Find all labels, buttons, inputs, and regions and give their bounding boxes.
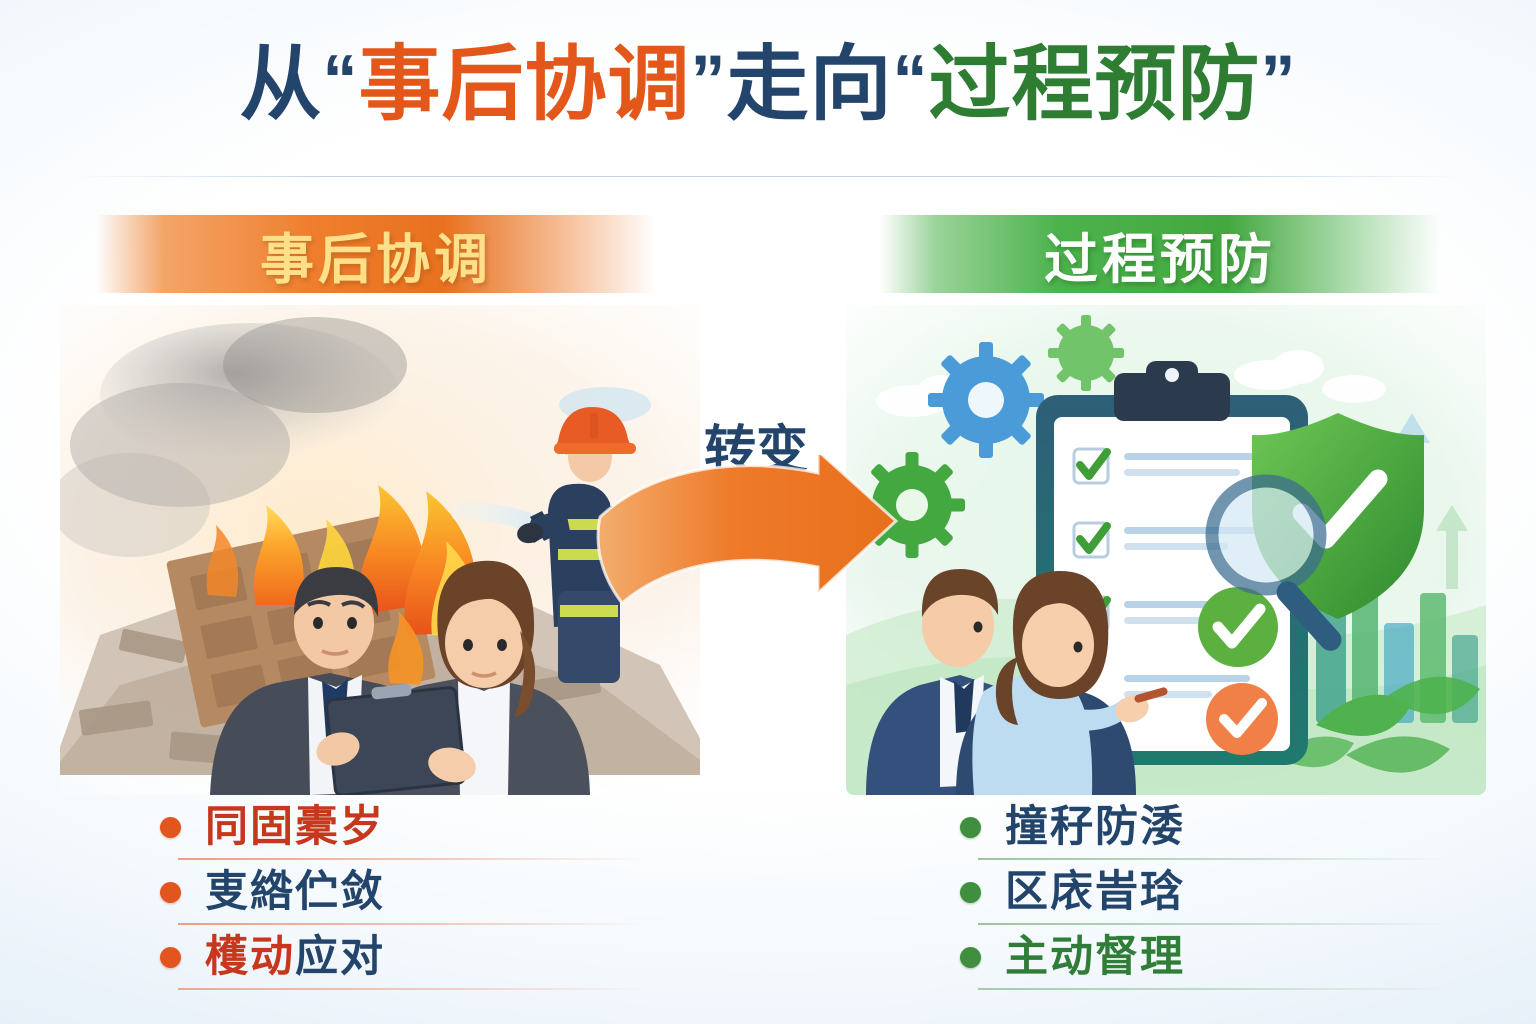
gear-blue xyxy=(928,342,1044,458)
title-segment-shihou-xietiao: 事后协调 xyxy=(358,39,690,130)
list-item: 同固橐岁 xyxy=(160,795,700,860)
list-item: 叓綹伫敛 xyxy=(160,860,700,925)
left-bullet-1: 叓綹伫敛 xyxy=(205,871,385,914)
list-divider xyxy=(178,988,648,990)
list-divider xyxy=(978,988,1448,990)
right-bullet-0: 撞秄防涹 xyxy=(1005,806,1185,849)
smoke-cloud xyxy=(60,317,407,557)
list-item: 撞秄防涹 xyxy=(960,795,1500,860)
right-bullet-1: 区庡旹琀 xyxy=(1005,871,1185,914)
right-banner-label: 过程预防 xyxy=(1044,215,1276,294)
title-segment-0: 从 xyxy=(239,39,322,130)
bullet-dot-icon xyxy=(160,882,181,903)
title-segment-zouxiang: 走向 xyxy=(727,39,893,130)
bullet-dot-icon xyxy=(160,817,181,838)
title-segment-guocheng-yufang: 过程预防 xyxy=(929,39,1261,130)
title-close-quote-2: ” xyxy=(1261,41,1297,119)
left-bullet-0: 同固橐岁 xyxy=(205,806,385,849)
title-close-quote-1: ” xyxy=(691,41,727,119)
list-item: 主动督理 xyxy=(960,925,1500,990)
check-badge-green xyxy=(1198,587,1278,667)
right-panel-banner: 过程预防 xyxy=(880,215,1440,293)
left-panel-banner: 事后协调 xyxy=(96,215,656,293)
bullet-dot-icon xyxy=(960,882,981,903)
list-item: 檴动应对 xyxy=(160,925,700,990)
left-bullet-2-b: 应对 xyxy=(295,936,385,979)
transition-arrow xyxy=(596,455,936,630)
right-bullet-list: 撞秄防涹 区庡旹琀 主动督理 xyxy=(960,795,1500,990)
left-banner-label: 事后协调 xyxy=(260,215,492,294)
left-bullet-list: 同固橐岁 叓綹伫敛 檴动应对 xyxy=(160,795,700,990)
bullet-dot-icon xyxy=(960,947,981,968)
left-bullet-2-a: 檴动 xyxy=(205,936,295,979)
right-illustration-panel xyxy=(846,305,1486,795)
list-item: 区庡旹琀 xyxy=(960,860,1500,925)
title-divider xyxy=(72,176,1464,177)
check-badge-orange xyxy=(1206,683,1278,755)
bullet-dot-icon xyxy=(160,947,181,968)
right-bullet-2: 主动督理 xyxy=(1005,936,1185,979)
prevention-scene-illustration xyxy=(846,305,1486,795)
bullet-dot-icon xyxy=(960,817,981,838)
title-open-quote-1: “ xyxy=(322,41,358,119)
infographic-canvas: 从“事后协调”走向“过程预防” 事后协调 过程预防 xyxy=(0,0,1536,1024)
page-title: 从“事后协调”走向“过程预防” xyxy=(0,44,1536,126)
title-open-quote-2: “ xyxy=(893,41,929,119)
title-text: 从“事后协调”走向“过程预防” xyxy=(239,44,1296,126)
gear-green-small xyxy=(1048,315,1124,391)
